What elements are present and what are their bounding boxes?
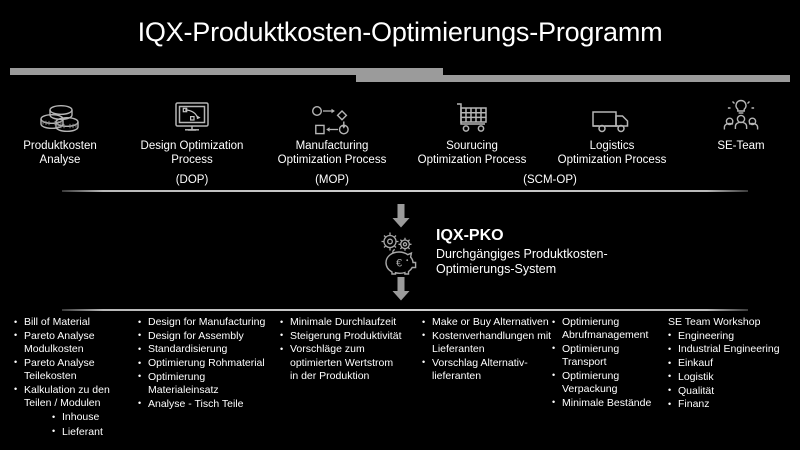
team-idea-icon bbox=[682, 92, 800, 136]
process-item-design-optimization-process[interactable]: Design OptimizationProcess bbox=[122, 92, 262, 167]
divider-bottom bbox=[62, 309, 748, 311]
process-item-se-team[interactable]: SE-Team bbox=[682, 92, 800, 154]
piggy-bank-gears-icon: € bbox=[376, 228, 428, 278]
list-item: Kostenverhandlungen mit Lieferanten bbox=[422, 330, 552, 356]
bullet-column-manufacturing-optimization: Minimale Durchlaufzeit Steigerung Produk… bbox=[280, 316, 404, 384]
list-item: Optimierung Materialeinsatz bbox=[138, 371, 268, 397]
bullet-list: Engineering Industrial Engineering Einka… bbox=[668, 330, 796, 412]
decorative-bar-top bbox=[10, 68, 443, 75]
process-item-manufacturing-optimization-process[interactable]: ManufacturingOptimization Process bbox=[262, 92, 402, 167]
list-item: Standardisierung bbox=[138, 343, 268, 356]
page-title: IQX-Produktkosten-Optimierungs-Programm bbox=[0, 17, 800, 48]
abbreviation-scm-op: (SCM-OP) bbox=[460, 174, 640, 186]
list-item: Pareto Analyse Teilekosten bbox=[14, 357, 132, 383]
process-label: ManufacturingOptimization Process bbox=[262, 140, 402, 167]
list-item: Design for Assembly bbox=[138, 330, 268, 343]
bullet-column-sourcing-optimization: Make or Buy Alternativen Kostenverhandlu… bbox=[422, 316, 552, 384]
svg-text:€: € bbox=[396, 258, 402, 270]
bullet-column-logistics-optimization: Optimierung Abrufmanagement Optimierung … bbox=[552, 316, 656, 410]
slide-canvas: IQX-Produktkosten-Optimierungs-Programm bbox=[0, 0, 800, 450]
bullet-list: Make or Buy Alternativen Kostenverhandlu… bbox=[422, 316, 552, 383]
list-item: Design for Manufacturing bbox=[138, 316, 268, 329]
list-item: Minimale Bestände bbox=[552, 397, 656, 410]
list-item: Vorschläge zum optimierten Wertstrom in … bbox=[280, 343, 404, 383]
bullet-list: Bill of Material Pareto Analyse Modulkos… bbox=[14, 316, 132, 410]
bullet-column-design-optimization: Design for Manufacturing Design for Asse… bbox=[138, 316, 268, 411]
bullet-list: Optimierung Abrufmanagement Optimierung … bbox=[552, 316, 656, 410]
list-item: Engineering bbox=[668, 330, 796, 343]
process-label: SourucingOptimization Process bbox=[402, 140, 542, 167]
list-item: Optimierung Verpackung bbox=[552, 370, 656, 396]
list-item: Optimierung Rohmaterial bbox=[138, 357, 268, 370]
list-item: Steigerung Produktivität bbox=[280, 330, 404, 343]
list-item: Optimierung Abrufmanagement bbox=[552, 316, 656, 342]
shopping-cart-icon bbox=[402, 92, 542, 136]
list-item: Vorschlag Alternativ-lieferanten bbox=[422, 357, 552, 383]
list-item: Finanz bbox=[668, 398, 796, 411]
bullet-sublist: Inhouse Lieferant bbox=[14, 410, 132, 439]
list-item: Minimale Durchlaufzeit bbox=[280, 316, 404, 329]
bullet-column-produktkosten-analyse: Bill of Material Pareto Analyse Modulkos… bbox=[14, 316, 132, 439]
process-row: ProduktkostenAnalyse bbox=[0, 92, 800, 187]
list-item: Pareto Analyse Modulkosten bbox=[14, 330, 132, 356]
arrow-down-icon-upper bbox=[389, 204, 413, 228]
center-subtitle-line1: Durchgängiges Produktkosten- bbox=[436, 247, 608, 261]
bullet-list: Design for Manufacturing Design for Asse… bbox=[138, 316, 268, 411]
list-item: Einkauf bbox=[668, 357, 796, 370]
process-label: LogisticsOptimization Process bbox=[542, 140, 682, 167]
list-item: Inhouse bbox=[52, 410, 132, 425]
list-item: Lieferant bbox=[52, 425, 132, 440]
flowchart-icon bbox=[262, 92, 402, 136]
process-item-sourcing-optimization-process[interactable]: SourucingOptimization Process bbox=[402, 92, 542, 167]
column-heading: SE Team Workshop bbox=[668, 316, 796, 329]
list-item: Make or Buy Alternativen bbox=[422, 316, 552, 329]
process-label: SE-Team bbox=[682, 140, 800, 154]
center-subtitle-line2: Optimierungs-System bbox=[436, 262, 556, 276]
coins-icon bbox=[0, 92, 120, 136]
center-subtitle: Durchgängiges Produktkosten- Optimierung… bbox=[436, 247, 736, 277]
list-item: Industrial Engineering bbox=[668, 343, 796, 356]
delivery-truck-icon bbox=[542, 92, 682, 136]
design-monitor-icon bbox=[122, 92, 262, 136]
bullet-list: Minimale Durchlaufzeit Steigerung Produk… bbox=[280, 316, 404, 383]
process-label: Design OptimizationProcess bbox=[122, 140, 262, 167]
list-item: Optimierung Transport bbox=[552, 343, 656, 369]
decorative-bar-bottom bbox=[356, 75, 790, 82]
center-title: IQX-PKO bbox=[436, 226, 736, 245]
abbreviation-mop: (MOP) bbox=[262, 174, 402, 186]
process-label: ProduktkostenAnalyse bbox=[0, 140, 120, 167]
list-item: Logistik bbox=[668, 371, 796, 384]
process-item-produktkosten-analyse[interactable]: ProduktkostenAnalyse bbox=[0, 92, 120, 167]
center-text-block: IQX-PKO Durchgängiges Produktkosten- Opt… bbox=[436, 226, 736, 277]
divider-top bbox=[62, 190, 748, 192]
bullet-column-se-team: SE Team Workshop Engineering Industrial … bbox=[668, 316, 796, 412]
list-item: Bill of Material bbox=[14, 316, 132, 329]
arrow-down-icon-lower bbox=[389, 277, 413, 301]
list-item: Analyse - Tisch Teile bbox=[138, 398, 268, 411]
list-item: Kalkulation zu den Teilen / Modulen bbox=[14, 384, 132, 410]
abbreviation-dop: (DOP) bbox=[122, 174, 262, 186]
process-item-logistics-optimization-process[interactable]: LogisticsOptimization Process bbox=[542, 92, 682, 167]
list-item: Qualität bbox=[668, 385, 796, 398]
bullet-columns: Bill of Material Pareto Analyse Modulkos… bbox=[0, 316, 800, 450]
